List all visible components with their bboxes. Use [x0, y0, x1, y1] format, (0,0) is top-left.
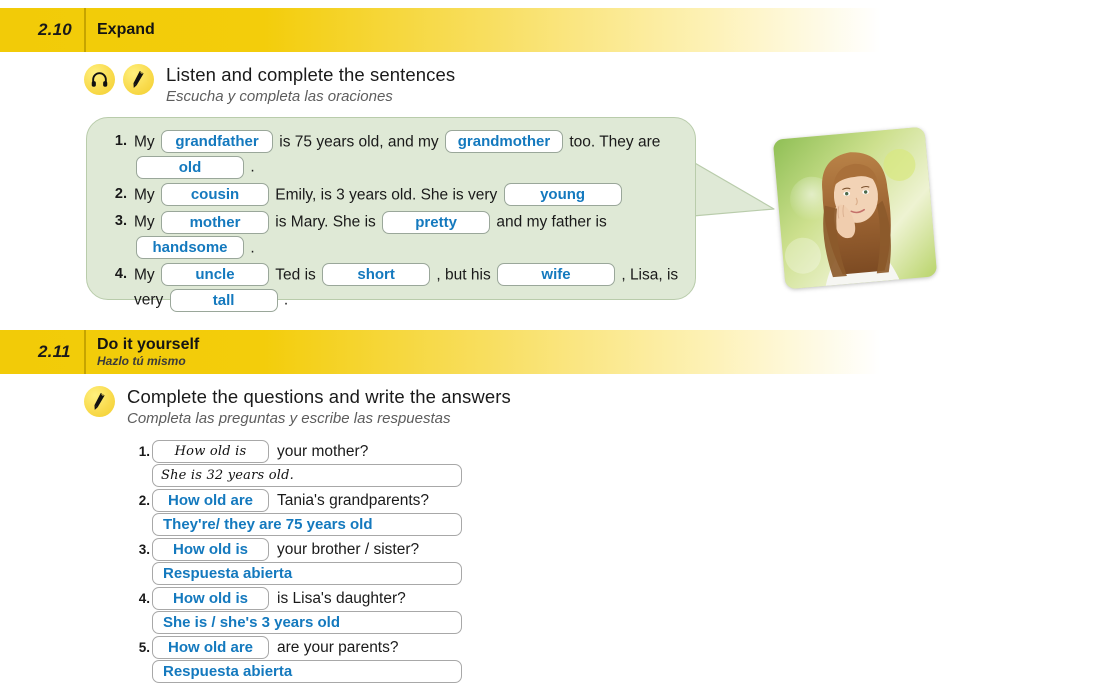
sentence-item: 2. My cousin Emily, is 3 years old. She … — [105, 182, 695, 207]
sentence-text: is Mary. She is — [275, 214, 376, 231]
item-number: 2. — [133, 493, 150, 508]
answer-input[interactable]: Respuesta abierta — [152, 660, 462, 683]
pencil-icon — [84, 386, 115, 417]
section-header-2-11: 2.11 Do it yourself Hazlo tú mismo — [0, 330, 1100, 374]
sentence-text: is 75 years old, and my — [279, 133, 438, 150]
question-input[interactable]: How old is — [152, 587, 269, 610]
sentence-text: too. They are — [569, 133, 660, 150]
question-input[interactable]: How old are — [152, 489, 269, 512]
sentence-text: . — [284, 292, 288, 309]
item-number: 4. — [133, 591, 150, 606]
answer-row: Respuesta abierta — [133, 660, 553, 683]
answer-row: They're/ they are 75 years old — [133, 513, 553, 536]
sentence-text: Emily, is 3 years old. She is very — [275, 186, 497, 203]
header-gradient-bar — [0, 8, 1100, 52]
answer-blank[interactable]: old — [136, 156, 244, 179]
sentence-item: 1. My grandfather is 75 years old, and m… — [105, 129, 695, 180]
sentence-body: My uncle Ted is short , but his wife , L… — [134, 262, 695, 313]
question-tail-text: are your parents? — [277, 638, 399, 658]
instruction-text-2-10: Listen and complete the sentences Escuch… — [166, 64, 455, 106]
item-number: 3. — [105, 209, 127, 229]
item-number: 1. — [133, 444, 150, 459]
question-row: 4. How old is is Lisa's daughter? — [133, 587, 553, 610]
question-input[interactable]: How old are — [152, 636, 269, 659]
question-tail-text: your brother / sister? — [277, 540, 419, 560]
header-divider — [84, 330, 86, 374]
section-title-en: Do it yourself — [97, 336, 199, 354]
answer-blank[interactable]: handsome — [136, 236, 244, 259]
sentence-text: . — [250, 239, 254, 256]
sentence-text: . — [250, 159, 254, 176]
pencil-icon — [123, 64, 154, 95]
answer-blank[interactable]: tall — [170, 289, 278, 312]
answer-blank[interactable]: grandmother — [445, 130, 563, 153]
instruction-en: Complete the questions and write the ans… — [127, 386, 511, 408]
answer-input[interactable]: Respuesta abierta — [152, 562, 462, 585]
sentence-body: My cousin Emily, is 3 years old. She is … — [134, 182, 624, 207]
question-row: 1. How old is your mother? — [133, 440, 553, 463]
answer-input[interactable]: She is / she's 3 years old — [152, 611, 462, 634]
sentence-text: My — [134, 186, 155, 203]
item-number: 4. — [105, 262, 127, 282]
question-row: 5. How old are are your parents? — [133, 636, 553, 659]
answer-input[interactable]: She is 32 years old. — [152, 464, 462, 487]
speech-bubble: 1. My grandfather is 75 years old, and m… — [86, 117, 776, 302]
answer-row: Respuesta abierta — [133, 562, 553, 585]
sentence-text: , but his — [436, 266, 490, 283]
item-number: 2. — [105, 182, 127, 202]
instruction-row-2-10: Listen and complete the sentences Escuch… — [84, 64, 455, 106]
instruction-en: Listen and complete the sentences — [166, 64, 455, 86]
sentence-text: My — [134, 266, 155, 283]
answer-blank[interactable]: uncle — [161, 263, 269, 286]
section-title-es: Hazlo tú mismo — [97, 355, 199, 369]
section-header-2-10: 2.10 Expand — [0, 8, 1100, 52]
sentence-text: My — [134, 133, 155, 150]
sentence-list: 1. My grandfather is 75 years old, and m… — [105, 129, 695, 315]
question-row: 2. How old are Tania's grandparents? — [133, 489, 553, 512]
item-number: 3. — [133, 542, 150, 557]
speech-bubble-body: 1. My grandfather is 75 years old, and m… — [86, 117, 696, 300]
girl-photo — [773, 127, 937, 290]
answer-blank[interactable]: pretty — [382, 211, 490, 234]
section-title-group: Expand — [97, 8, 155, 52]
answer-row: She is / she's 3 years old — [133, 611, 553, 634]
answer-blank[interactable]: cousin — [161, 183, 269, 206]
section-title-group: Do it yourself Hazlo tú mismo — [97, 330, 199, 374]
question-tail-text: your mother? — [277, 442, 368, 462]
section-number: 2.11 — [38, 330, 71, 374]
answer-blank[interactable]: mother — [161, 211, 269, 234]
sentence-item: 4. My uncle Ted is short , but his wife … — [105, 262, 695, 313]
instruction-text-2-11: Complete the questions and write the ans… — [127, 386, 511, 428]
question-input[interactable]: How old is — [152, 538, 269, 561]
section-number: 2.10 — [38, 8, 72, 52]
item-number: 5. — [133, 640, 150, 655]
answer-input[interactable]: They're/ they are 75 years old — [152, 513, 462, 536]
sentence-text: Ted is — [275, 266, 316, 283]
headphones-icon — [84, 64, 115, 95]
answer-blank[interactable]: wife — [497, 263, 615, 286]
sentence-body: My grandfather is 75 years old, and my g… — [134, 129, 695, 180]
question-tail-text: Tania's grandparents? — [277, 491, 429, 511]
exercise-2-11-list: 1. How old is your mother? She is 32 yea… — [133, 440, 553, 685]
sentence-body: My mother is Mary. She is pretty and my … — [134, 209, 695, 260]
instruction-es: Completa las preguntas y escribe las res… — [127, 410, 511, 428]
answer-blank[interactable]: short — [322, 263, 430, 286]
section-title-en: Expand — [97, 21, 155, 39]
answer-row: She is 32 years old. — [133, 464, 553, 487]
instruction-row-2-11: Complete the questions and write the ans… — [84, 386, 511, 428]
instruction-es: Escucha y completa las oraciones — [166, 88, 455, 106]
sentence-text: and my father is — [496, 214, 606, 231]
sentence-item: 3. My mother is Mary. She is pretty and … — [105, 209, 695, 260]
answer-blank[interactable]: grandfather — [161, 130, 273, 153]
sentence-text: My — [134, 214, 155, 231]
question-input[interactable]: How old is — [152, 440, 269, 463]
item-number: 1. — [105, 129, 127, 149]
header-divider — [84, 8, 86, 52]
answer-blank[interactable]: young — [504, 183, 622, 206]
question-row: 3. How old is your brother / sister? — [133, 538, 553, 561]
question-tail-text: is Lisa's daughter? — [277, 589, 406, 609]
